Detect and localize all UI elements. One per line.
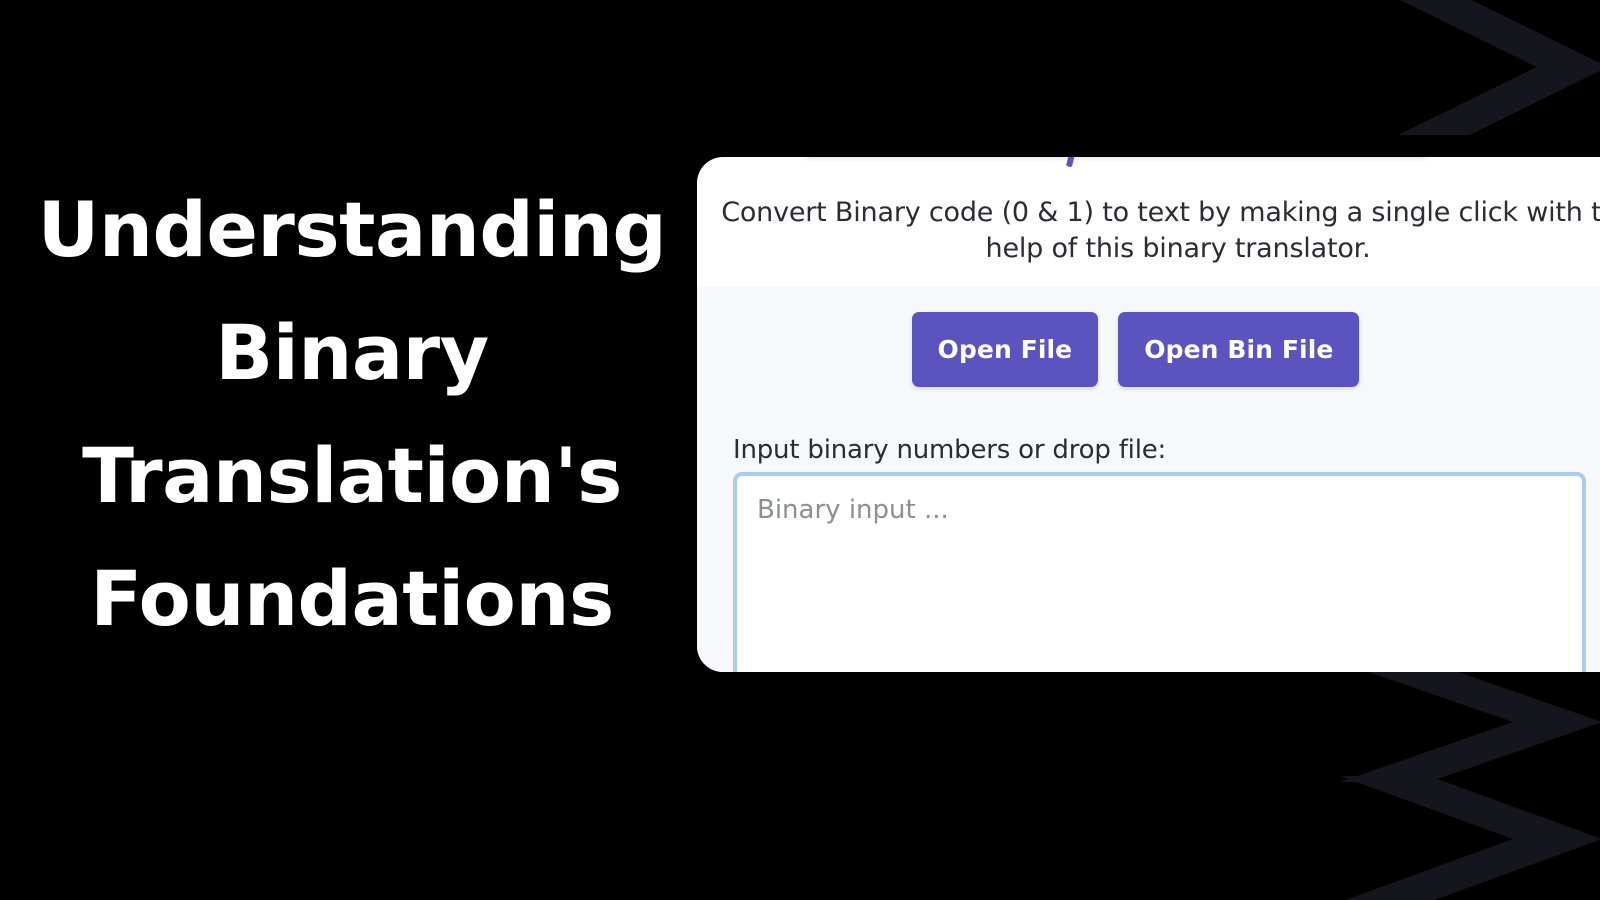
- chevron-decoration-bottom-right-upper: [1340, 662, 1600, 782]
- chevron-decoration-top-right: [1398, 0, 1600, 135]
- poster-canvas: Understanding Binary Translation's Found…: [0, 0, 1600, 900]
- binary-input-textarea[interactable]: [733, 472, 1586, 672]
- translator-tool-panel: Open File Open Bin File Input binary num…: [697, 287, 1600, 672]
- card-title-clipped-sliver: [697, 157, 1600, 167]
- binary-input-label: Input binary numbers or drop file:: [733, 435, 1166, 465]
- headline-title: Understanding Binary Translation's Found…: [24, 168, 680, 660]
- card-description-text: Convert Binary code (0 & 1) to text by m…: [697, 195, 1600, 267]
- title-smudge: [807, 157, 1427, 159]
- binary-translator-card: Convert Binary code (0 & 1) to text by m…: [697, 157, 1600, 672]
- open-file-button[interactable]: Open File: [912, 312, 1099, 387]
- chevron-decoration-bottom-right-lower: [1340, 776, 1600, 900]
- open-bin-file-button[interactable]: Open Bin File: [1118, 312, 1359, 387]
- file-button-row: Open File Open Bin File: [697, 312, 1574, 387]
